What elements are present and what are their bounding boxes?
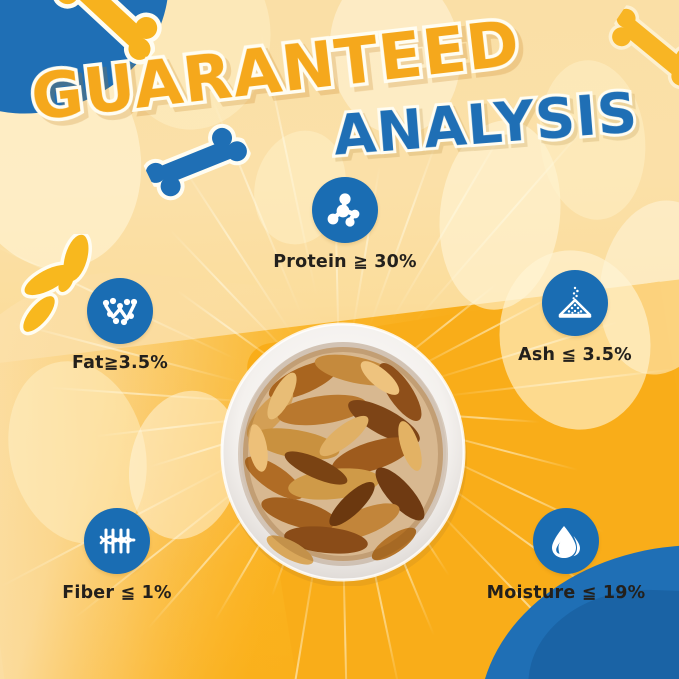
pulse-dots-icon	[98, 289, 142, 333]
nutrient-icon-circle-fiber	[84, 508, 150, 574]
guaranteed-analysis-poster: GUARANTEED ANALYSIS	[0, 0, 679, 679]
nutrient-item-ash[interactable]: Ash ≦ 3.5%	[490, 270, 660, 365]
ash-pile-icon	[553, 281, 597, 325]
bowl-of-chicken-jerky-strips	[204, 318, 482, 586]
nutrient-item-fat[interactable]: Fat≧3.5%	[35, 278, 205, 373]
nutrient-icon-circle-ash	[542, 270, 608, 336]
nutrient-item-protein[interactable]: Protein ≧ 30%	[260, 177, 430, 272]
nutrient-label-moisture: Moisture ≦ 19%	[481, 583, 651, 603]
woven-fiber-icon	[95, 519, 139, 563]
nutrient-icon-circle-protein	[312, 177, 378, 243]
poster-title: GUARANTEED ANALYSIS	[0, 0, 679, 200]
nutrient-label-protein: Protein ≧ 30%	[260, 252, 430, 272]
nutrient-icon-circle-fat	[87, 278, 153, 344]
nutrient-item-fiber[interactable]: Fiber ≦ 1%	[32, 508, 202, 603]
molecule-icon	[323, 188, 367, 232]
nutrient-label-ash: Ash ≦ 3.5%	[490, 345, 660, 365]
nutrient-label-fiber: Fiber ≦ 1%	[32, 583, 202, 603]
nutrient-label-fat: Fat≧3.5%	[35, 353, 205, 373]
nutrient-item-moisture[interactable]: Moisture ≦ 19%	[481, 508, 651, 603]
water-drop-icon	[544, 519, 588, 563]
nutrient-icon-circle-moisture	[533, 508, 599, 574]
